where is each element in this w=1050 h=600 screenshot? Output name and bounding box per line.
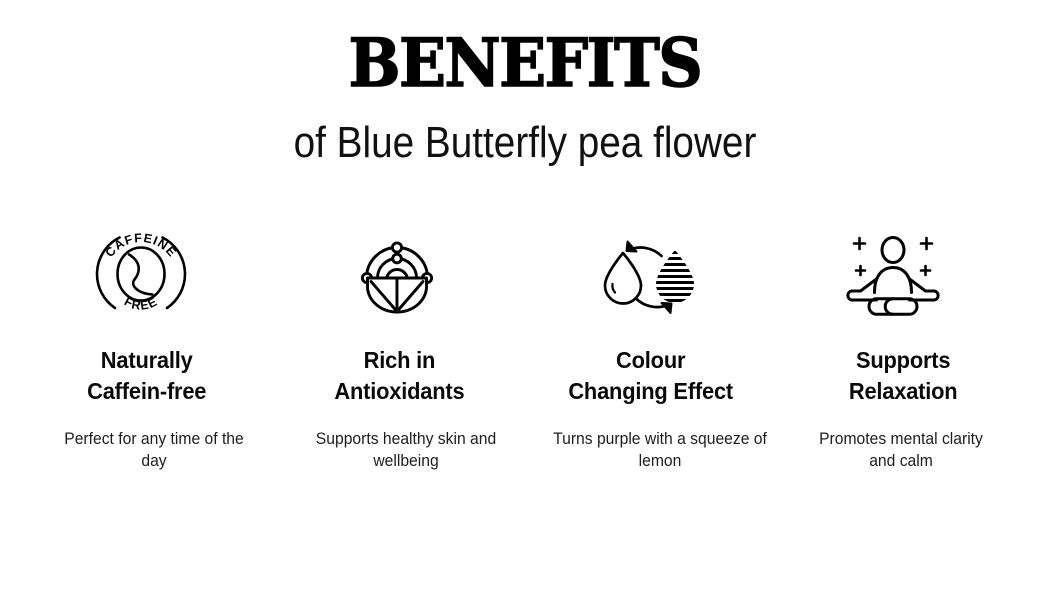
antioxidant-flower-icon: [345, 222, 449, 326]
benefit-heading-line1: Supports: [849, 345, 958, 376]
benefit-description: Perfect for any time of the day: [53, 428, 254, 473]
title-block: BENEFITS: [0, 32, 1050, 95]
page-subtitle: of Blue Butterfly pea flower: [63, 119, 987, 167]
colour-changing-droplets-icon: [597, 222, 701, 326]
benefit-item-antioxidants: Rich in Antioxidants Supports healthy sk…: [274, 222, 524, 473]
benefit-heading-line1: Colour: [569, 345, 734, 376]
benefit-heading-line2: Caffein-free: [87, 376, 206, 407]
benefit-description: Promotes mental clarity and calm: [806, 428, 996, 473]
page-title: BENEFITS: [37, 32, 1014, 95]
subtitle-block: of Blue Butterfly pea flower: [0, 119, 1050, 167]
benefit-item-colour-changing: Colour Changing Effect Turns purple with…: [526, 222, 776, 473]
benefit-item-caffeine-free: CAFFEINE FREE Naturally Caffein-free Per…: [22, 222, 272, 473]
benefit-heading: Supports Relaxation: [849, 345, 958, 406]
benefit-heading-line2: Changing Effect: [569, 376, 734, 407]
svg-text:FREE: FREE: [122, 294, 160, 313]
caffeine-free-badge-icon: CAFFEINE FREE: [89, 222, 193, 326]
benefits-infographic: BENEFITS of Blue Butterfly pea flower: [0, 0, 1050, 600]
benefit-heading-line2: Antioxidants: [334, 376, 464, 407]
free-arc-text: FREE: [122, 294, 160, 313]
benefit-description: Supports healthy skin and wellbeing: [306, 428, 506, 473]
benefit-heading: Naturally Caffein-free: [87, 345, 206, 406]
benefit-item-relaxation: Supports Relaxation Promotes mental clar…: [778, 222, 1028, 473]
benefit-heading: Rich in Antioxidants: [334, 345, 464, 406]
caffeine-arc-text: CAFFEINE: [102, 231, 179, 260]
benefit-heading: Colour Changing Effect: [569, 345, 734, 406]
benefit-description: Turns purple with a squeeze of lemon: [547, 428, 773, 473]
svg-text:CAFFEINE: CAFFEINE: [102, 231, 179, 260]
benefit-heading-line1: Naturally: [87, 345, 206, 376]
meditation-relaxation-icon: [841, 222, 945, 326]
benefits-columns: CAFFEINE FREE Naturally Caffein-free Per…: [0, 222, 1050, 473]
benefit-heading-line2: Relaxation: [849, 376, 958, 407]
benefit-heading-line1: Rich in: [334, 345, 464, 376]
